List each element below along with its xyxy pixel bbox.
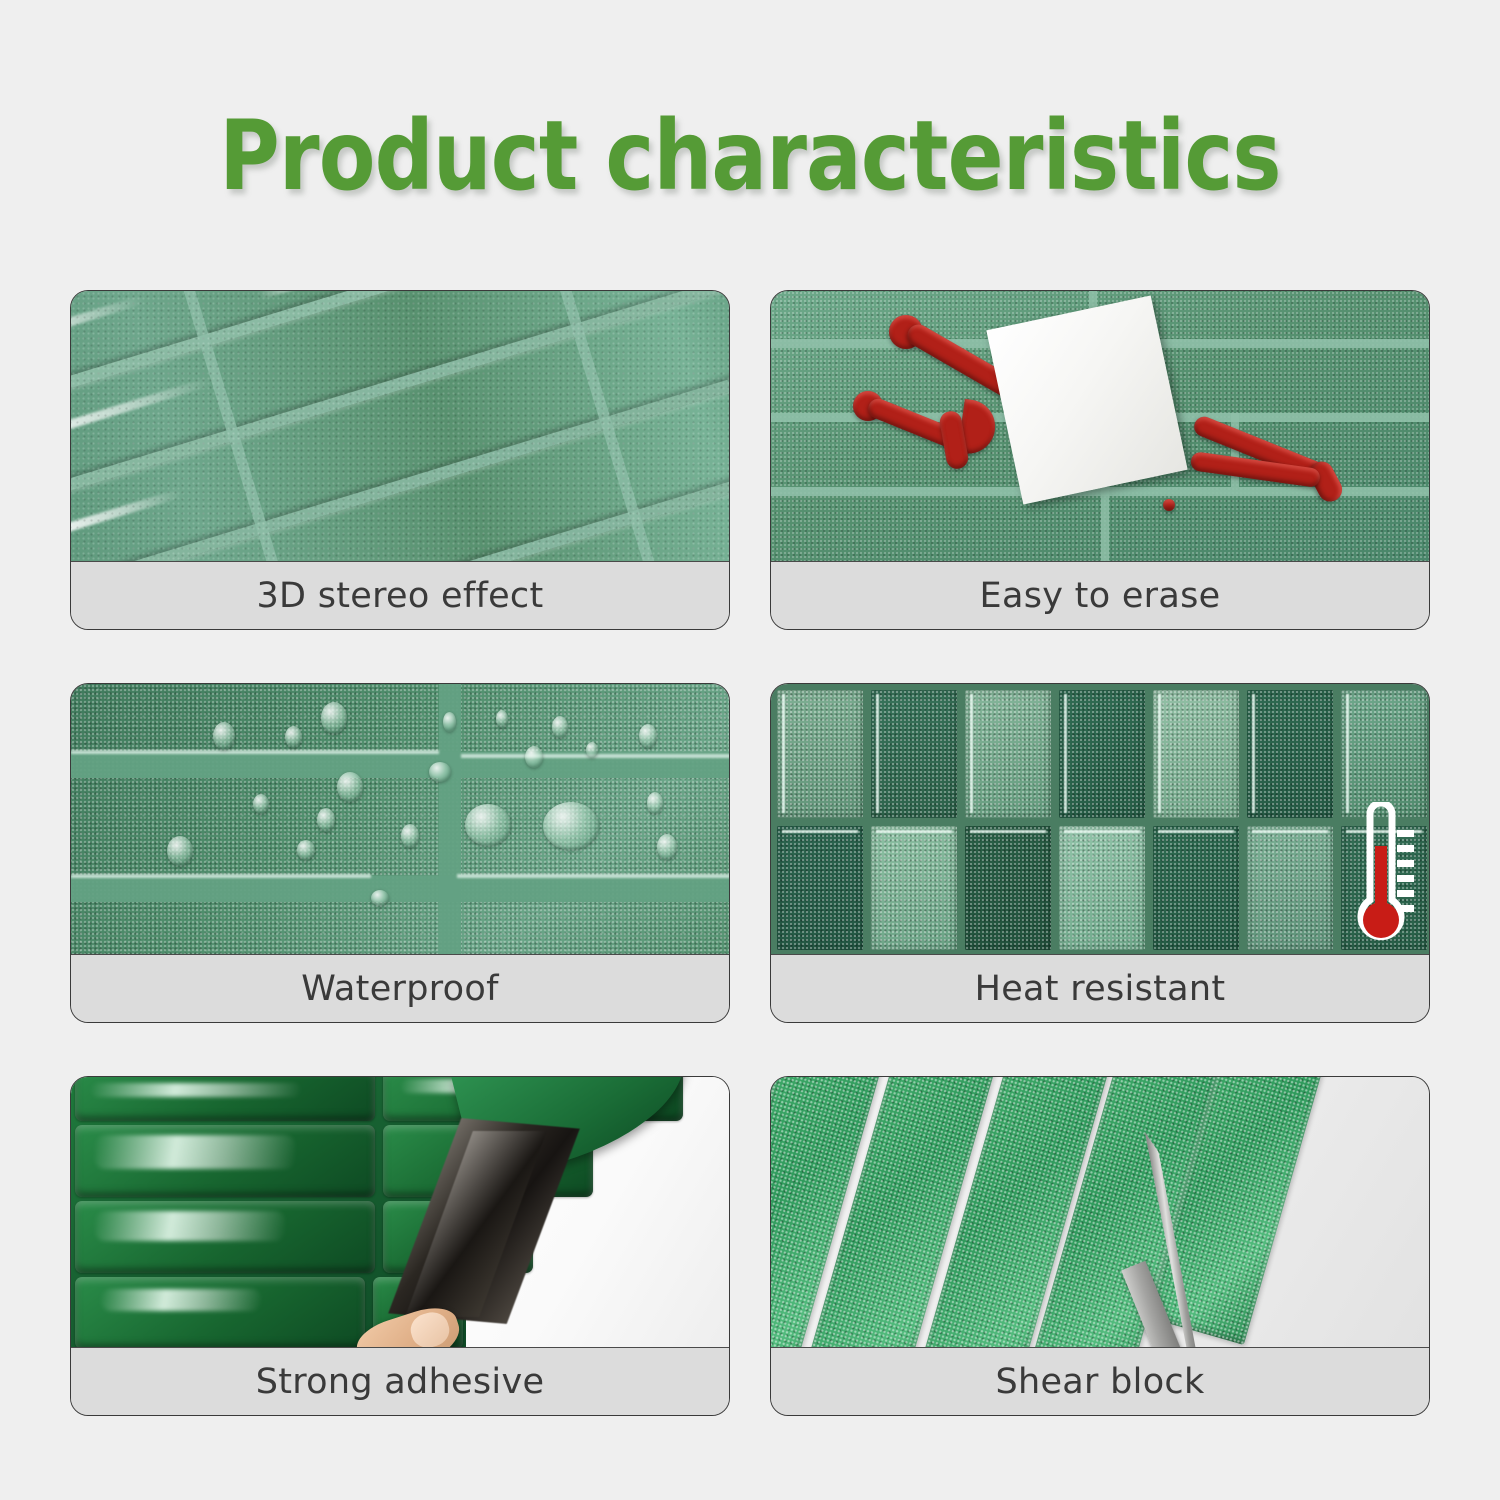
card-caption: Heat resistant [771,954,1429,1022]
thermometer-icon [1341,802,1415,952]
card-caption: 3D stereo effect [71,561,729,629]
photo-red-marker-wiped-with-tissue [771,291,1429,563]
white-tissue [986,295,1187,504]
photo-vertical-tile-grid-with-thermometer [771,684,1429,956]
page-title: Product characteristics [105,108,1395,204]
card-caption: Shear block [771,1347,1429,1415]
feature-card-heat-resistant[interactable]: Heat resistant [770,683,1430,1023]
card-caption-text: Strong adhesive [256,1362,545,1402]
card-caption-text: Waterproof [301,969,498,1009]
feature-card-grid: 3D stereo effect [70,290,1430,1420]
card-caption-text: Easy to erase [980,576,1221,616]
card-caption: Waterproof [71,954,729,1022]
feature-card-3d-stereo-effect[interactable]: 3D stereo effect [70,290,730,630]
photo-green-subway-tile-diagonal-gloss [71,291,729,563]
feature-card-shear-block[interactable]: Shear block [770,1076,1430,1416]
card-caption-text: 3D stereo effect [256,576,543,616]
feature-card-strong-adhesive[interactable]: Strong adhesive [70,1076,730,1416]
feature-card-easy-to-erase[interactable]: Easy to erase [770,290,1430,630]
photo-water-droplets-on-tile [71,684,729,956]
card-caption-text: Shear block [995,1362,1204,1402]
photo-scissors-cutting-tile-strip [771,1077,1429,1349]
card-caption: Strong adhesive [71,1347,729,1415]
feature-card-waterproof[interactable]: Waterproof [70,683,730,1023]
card-caption-text: Heat resistant [975,969,1226,1009]
card-caption: Easy to erase [771,561,1429,629]
photo-peeling-tile-sheet-backing [71,1077,729,1349]
red-marker-stroke [1163,499,1175,511]
